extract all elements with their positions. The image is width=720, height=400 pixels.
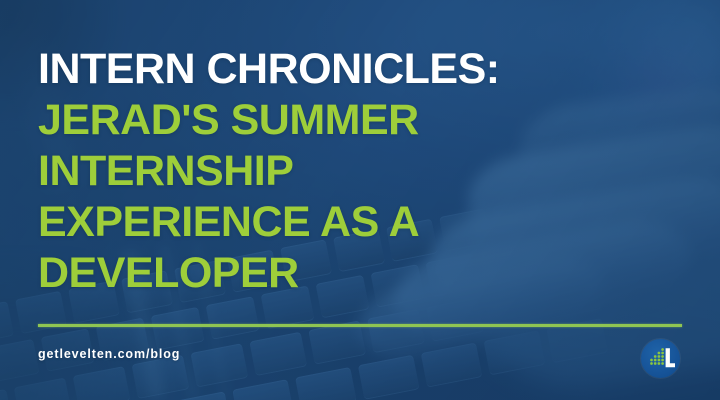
green-divider-line bbox=[38, 324, 682, 327]
blog-banner-image: INTERN CHRONICLES: JERAD'S SUMMER INTERN… bbox=[0, 0, 720, 400]
site-url-text: getlevelten.com/blog bbox=[38, 347, 180, 361]
headline-line-5: DEVELOPER bbox=[38, 248, 698, 299]
logo-mark-icon bbox=[641, 339, 680, 378]
headline-line-2: JERAD'S SUMMER bbox=[38, 95, 698, 146]
getlevelten-logo[interactable] bbox=[641, 339, 680, 378]
headline-block: INTERN CHRONICLES: JERAD'S SUMMER INTERN… bbox=[38, 44, 698, 299]
banner-content: INTERN CHRONICLES: JERAD'S SUMMER INTERN… bbox=[0, 0, 720, 400]
headline-line-3: INTERNSHIP bbox=[38, 146, 698, 197]
headline-line-4: EXPERIENCE AS A bbox=[38, 197, 698, 248]
headline-line-1: INTERN CHRONICLES: bbox=[38, 44, 698, 95]
